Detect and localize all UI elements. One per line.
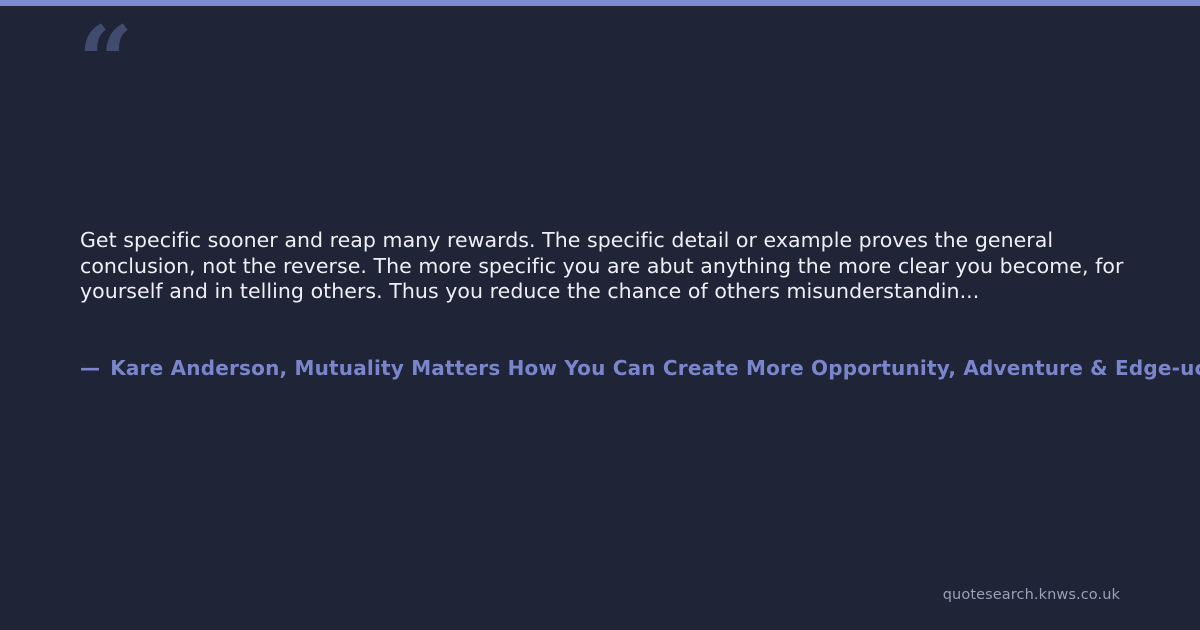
attribution-text: Kare Anderson, Mutuality Matters How You… [110, 356, 1200, 380]
quote-card: “ Get specific sooner and reap many rewa… [0, 0, 1200, 630]
quote-attribution: —Kare Anderson, Mutuality Matters How Yo… [80, 355, 1200, 381]
quote-text: Get specific sooner and reap many reward… [80, 228, 1125, 305]
opening-quote-icon: “ [78, 14, 131, 110]
source-url-label: quotesearch.knws.co.uk [943, 587, 1120, 603]
top-accent-bar [0, 0, 1200, 6]
attribution-dash: — [80, 356, 100, 380]
